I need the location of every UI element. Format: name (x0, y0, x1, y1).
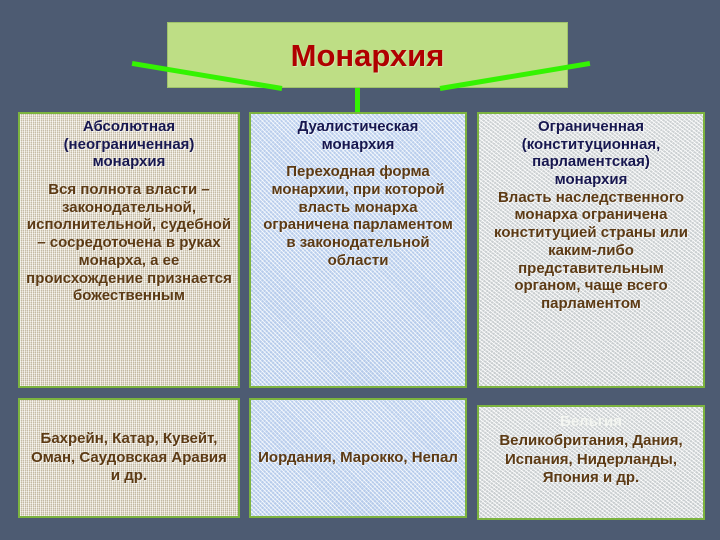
card-limited-heading-line2: (конституционная, (485, 136, 697, 154)
card-limited-heading-line3: парламентская) (485, 153, 697, 171)
card-dualistic-heading-line2: монархия (257, 136, 459, 154)
page-title: Монархия (291, 40, 445, 71)
card-limited-examples-text: Великобритания, Дания, Испания, Нидерлан… (485, 432, 697, 488)
card-limited-heading: Ограниченная (конституционная, парламент… (485, 118, 697, 189)
card-absolute-description: Вся полнота власти – законодательной, ис… (26, 181, 232, 305)
card-limited-heading-line1: Ограниченная (485, 118, 697, 136)
card-dualistic-examples-text: Иордания, Марокко, Непал (258, 449, 458, 468)
card-absolute-heading-line2: (неограниченная) (26, 136, 232, 154)
card-dualistic-heading: Дуалистическая монархия (257, 118, 459, 153)
card-absolute-monarchy: Абсолютная (неограниченная) монархия Вся… (18, 112, 240, 388)
card-absolute-heading-line1: Абсолютная (26, 118, 232, 136)
card-limited-examples: Бельгия Великобритания, Дания, Испания, … (477, 405, 705, 520)
connector-line-middle (355, 88, 360, 113)
card-dualistic-description: Переходная форма монархии, при которой в… (257, 163, 459, 269)
card-limited-description: Власть наследственного монарха ограничен… (485, 189, 697, 313)
card-limited-examples-faint-text: Бельгия (485, 413, 697, 432)
slide-canvas: Монархия Абсолютная (неограниченная) мон… (0, 0, 720, 540)
card-dualistic-examples: Иордания, Марокко, Непал (249, 398, 467, 518)
card-dualistic-monarchy: Дуалистическая монархия Переходная форма… (249, 112, 467, 388)
card-absolute-examples: Бахрейн, Катар, Кувейт, Оман, Саудовская… (18, 398, 240, 518)
card-dualistic-heading-line1: Дуалистическая (257, 118, 459, 136)
card-limited-monarchy: Ограниченная (конституционная, парламент… (477, 112, 705, 388)
card-absolute-examples-text: Бахрейн, Катар, Кувейт, Оман, Саудовская… (26, 430, 232, 486)
card-limited-heading-line4: монархия (485, 171, 697, 189)
card-absolute-heading-line3: монархия (26, 153, 232, 171)
card-absolute-heading: Абсолютная (неограниченная) монархия (26, 118, 232, 171)
